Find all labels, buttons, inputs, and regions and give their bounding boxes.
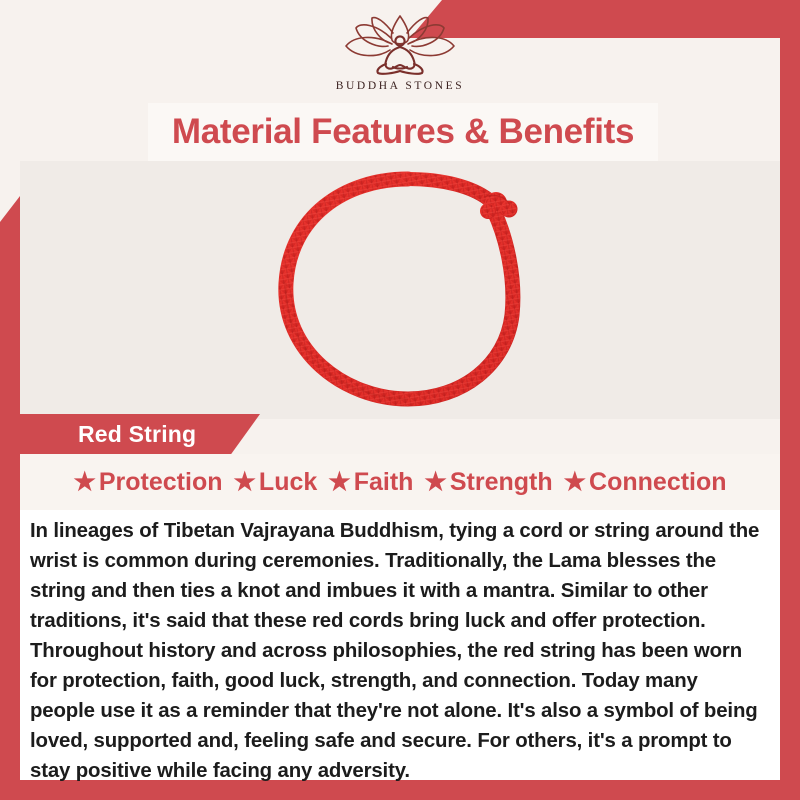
benefit-strength: ★Strength [424, 468, 552, 497]
page-title-band: Material Features & Benefits [148, 103, 658, 161]
benefit-label: Connection [589, 468, 727, 497]
red-string-ribbon: Red String [20, 414, 260, 454]
benefits-strip: ★Protection ★Luck ★Faith ★Strength ★Conn… [20, 454, 780, 510]
star-icon: ★ [328, 470, 350, 495]
benefit-protection: ★Protection [73, 468, 222, 497]
left-red-border [0, 196, 20, 800]
benefit-label: Protection [99, 468, 223, 497]
star-icon: ★ [234, 470, 256, 495]
benefit-label: Luck [259, 468, 317, 497]
star-icon: ★ [73, 470, 95, 495]
page-title: Material Features & Benefits [172, 112, 634, 152]
right-red-border [780, 0, 800, 800]
red-string-bracelet-image [248, 165, 568, 419]
description-paragraph: In lineages of Tibetan Vajrayana Buddhis… [30, 516, 762, 786]
star-icon: ★ [424, 470, 446, 495]
benefit-label: Faith [354, 468, 414, 497]
brand-name: BUDDHA STONES [336, 80, 464, 92]
lotus-meditation-icon [330, 14, 470, 76]
hero-product-area [20, 161, 780, 419]
benefit-label: Strength [450, 468, 553, 497]
benefit-connection: ★Connection [564, 468, 727, 497]
ribbon-label: Red String [20, 421, 196, 448]
benefit-faith: ★Faith [328, 468, 413, 497]
star-icon: ★ [564, 470, 586, 495]
page-frame: BUDDHA STONES Material Features & Benefi… [0, 0, 800, 800]
brand-logo-block: BUDDHA STONES [0, 14, 800, 92]
benefit-luck: ★Luck [234, 468, 318, 497]
description-block: In lineages of Tibetan Vajrayana Buddhis… [20, 510, 780, 780]
